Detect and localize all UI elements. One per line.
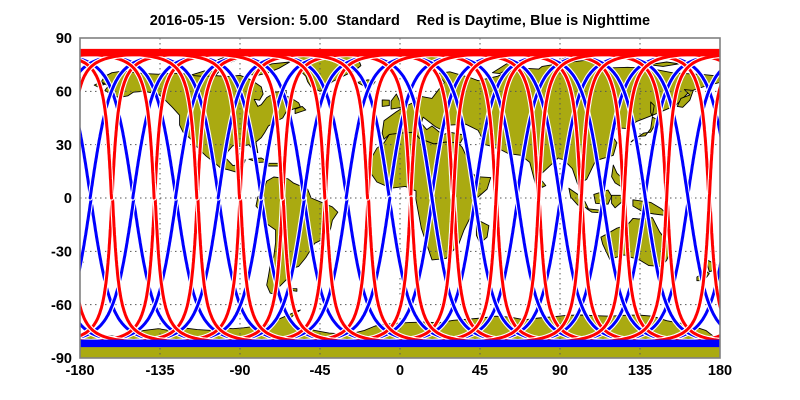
landmass-kamchatka-wrapW — [37, 90, 53, 108]
y-axis-tick-label: 60 — [56, 85, 72, 101]
x-axis-tick-label: 0 — [396, 363, 404, 379]
night-ground-track-halo — [0, 53, 6, 344]
y-axis-tick-label: -60 — [51, 298, 72, 314]
night-ground-track-halo — [0, 53, 91, 344]
landmass-nova-zem-e-wrapW — [9, 62, 39, 66]
landmass-new-zealand-s-wrapW — [57, 271, 69, 281]
x-axis-tick-label: 45 — [472, 363, 488, 379]
night-ground-track — [0, 53, 6, 344]
x-axis-tick-label: 180 — [708, 363, 732, 379]
night-ground-track-halo — [730, 53, 800, 344]
landmass-new-guinea-wrapW — [0, 200, 28, 216]
y-axis-tick-label: 0 — [64, 191, 72, 207]
x-axis-tick-label: -45 — [310, 363, 331, 379]
day-ground-track-halo — [0, 53, 26, 344]
landmass-bering-wrapE — [734, 82, 745, 87]
x-axis-tick-label: -180 — [65, 363, 94, 379]
night-ground-track-halo — [0, 53, 49, 344]
day-ground-track — [0, 53, 26, 344]
night-ground-track — [0, 53, 91, 344]
ground-track-plot: 9060300-30-60-90-180-135-90-450459013518… — [0, 0, 800, 400]
landmass-eurasia-wrapW — [0, 60, 80, 185]
day-ground-track-halo — [753, 53, 800, 344]
y-axis-tick-label: -30 — [51, 245, 72, 261]
night-ground-track — [773, 53, 800, 344]
landmass-new-zealand-n-wrapW — [68, 260, 77, 272]
y-axis-tick-label: 90 — [56, 31, 72, 47]
night-ground-track — [0, 53, 49, 344]
landmass-ireland — [382, 100, 389, 107]
y-axis-tick-label: 30 — [56, 138, 72, 154]
landmass-hispaniola — [268, 163, 279, 166]
day-ground-track-halo — [710, 53, 800, 344]
figure-canvas: 2016-05-15 Version: 5.00 Standard Red is… — [0, 0, 800, 400]
day-ground-track — [753, 53, 800, 344]
x-axis-tick-label: -90 — [230, 363, 251, 379]
landmass-australia-wrapW — [0, 218, 32, 267]
day-ground-track-halo — [795, 53, 800, 344]
x-axis-tick-label: 90 — [552, 363, 568, 379]
night-ground-track — [730, 53, 800, 344]
x-axis-tick-label: -135 — [145, 363, 174, 379]
day-ground-track — [710, 53, 800, 344]
x-axis-tick-label: 135 — [628, 363, 652, 379]
night-ground-track-halo — [773, 53, 800, 344]
day-ground-track — [795, 53, 800, 344]
landmass-north-america-wrapE — [741, 71, 800, 172]
